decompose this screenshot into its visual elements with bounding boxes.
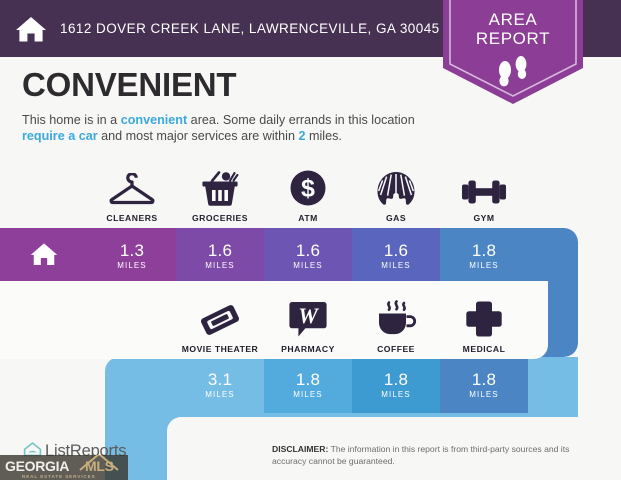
category-label: GYM <box>473 213 494 223</box>
hanger-icon <box>109 173 155 207</box>
distance-value: 1.6 <box>296 242 320 259</box>
category-card-cleaners: CLEANERS <box>88 165 176 223</box>
dollar-circle-icon: $ <box>289 169 327 207</box>
basket-icon <box>199 171 241 207</box>
home-icon <box>29 239 59 274</box>
category-card-pharmacy: WPHARMACY <box>264 296 352 354</box>
distance-cell-coffee: 1.8MILES <box>352 357 440 413</box>
category-card-movie-theater: MOVIE THEATER <box>176 296 264 354</box>
desc-part-3: and most major services are within <box>98 129 299 143</box>
desc-part-2: area. Some daily errands in this locatio… <box>187 113 415 127</box>
home-icon <box>14 12 48 46</box>
distance-value: 1.8 <box>472 371 496 388</box>
page-description: This home is in a convenient area. Some … <box>22 112 442 144</box>
desc-highlight-2: require a car <box>22 129 98 143</box>
category-label: CLEANERS <box>106 213 157 223</box>
category-label: GAS <box>386 213 406 223</box>
distance-cell-cleaners: 1.3MILES <box>88 228 176 284</box>
category-icon-row-2: MOVIE THEATERWPHARMACYCOFFEEMEDICAL <box>176 296 528 354</box>
distance-unit: MILES <box>293 261 323 271</box>
distance-value: 1.8 <box>384 371 408 388</box>
gmls-text-georgia: GEORGIA <box>5 458 69 474</box>
ticket-icon <box>199 302 241 338</box>
category-label: ATM <box>298 213 317 223</box>
disclaimer-label: DISCLAIMER: <box>272 444 328 454</box>
ribbon-home-marker <box>0 228 88 284</box>
distance-unit: MILES <box>293 390 323 400</box>
category-label: GROCERIES <box>192 213 248 223</box>
category-label: MOVIE THEATER <box>182 344 259 354</box>
distance-unit: MILES <box>117 261 147 271</box>
page-title: CONVENIENT <box>22 66 236 104</box>
badge-line-1: AREA <box>443 10 583 29</box>
distance-value: 1.8 <box>296 371 320 388</box>
ribbon-row-2-segments: 3.1MILES1.8MILES1.8MILES1.8MILES <box>105 357 578 417</box>
distance-value: 1.6 <box>208 242 232 259</box>
distance-cell-groceries: 1.6MILES <box>176 228 264 284</box>
georgia-mls-watermark: GEORGIA MLS REAL ESTATE SERVICES <box>0 455 128 480</box>
distance-cell-medical: 1.8MILES <box>440 357 528 413</box>
category-card-gas: GAS <box>352 165 440 223</box>
distance-value: 3.1 <box>208 371 232 388</box>
gmls-text-mls: MLS <box>85 458 114 474</box>
distance-unit: MILES <box>469 261 499 271</box>
desc-highlight-3: 2 <box>298 129 305 143</box>
gmls-tagline: REAL ESTATE SERVICES <box>22 474 96 479</box>
shell-icon <box>376 171 416 207</box>
svg-text:W: W <box>298 303 319 328</box>
distance-value: 1.8 <box>472 242 496 259</box>
distance-unit: MILES <box>381 261 411 271</box>
badge-line-2: REPORT <box>443 29 583 48</box>
distance-unit: MILES <box>469 390 499 400</box>
category-label: COFFEE <box>377 344 415 354</box>
category-card-groceries: GROCERIES <box>176 165 264 223</box>
distance-value: 1.6 <box>384 242 408 259</box>
distance-cell-atm: 1.6MILES <box>264 228 352 284</box>
dumbbell-icon <box>461 177 507 207</box>
walgreens-w-icon: W <box>289 300 327 338</box>
distance-cell-gym: 1.8MILES <box>440 228 528 284</box>
area-report-page: 1612 DOVER CREEK LANE, LAWRENCEVILLE, GA… <box>0 0 621 480</box>
badge-text: AREA REPORT <box>443 10 583 48</box>
distance-cell-movie-theater: 3.1MILES <box>176 357 264 413</box>
desc-part-4: miles. <box>306 129 342 143</box>
distance-unit: MILES <box>381 390 411 400</box>
desc-part-1: This home is in a <box>22 113 121 127</box>
area-report-badge: AREA REPORT <box>443 0 583 104</box>
category-card-gym: GYM <box>440 165 528 223</box>
category-card-medical: MEDICAL <box>440 296 528 354</box>
svg-text:$: $ <box>301 175 315 203</box>
desc-highlight-1: convenient <box>121 113 187 127</box>
category-card-coffee: COFFEE <box>352 296 440 354</box>
distance-cell-pharmacy: 1.8MILES <box>264 357 352 413</box>
distance-unit: MILES <box>205 261 235 271</box>
coffee-icon <box>375 300 417 338</box>
category-card-atm: $ATM <box>264 165 352 223</box>
distance-cell-gas: 1.6MILES <box>352 228 440 284</box>
category-label: MEDICAL <box>463 344 506 354</box>
property-address: 1612 DOVER CREEK LANE, LAWRENCEVILLE, GA… <box>60 21 440 36</box>
category-label: PHARMACY <box>281 344 335 354</box>
icon-row-2-card-left <box>0 281 160 359</box>
medical-cross-icon <box>465 300 503 338</box>
distance-value: 1.3 <box>120 242 144 259</box>
distance-unit: MILES <box>205 390 235 400</box>
category-icon-row-1: CLEANERSGROCERIES$ATMGASGYM <box>88 165 528 223</box>
disclaimer: DISCLAIMER: The information in this repo… <box>272 444 592 467</box>
